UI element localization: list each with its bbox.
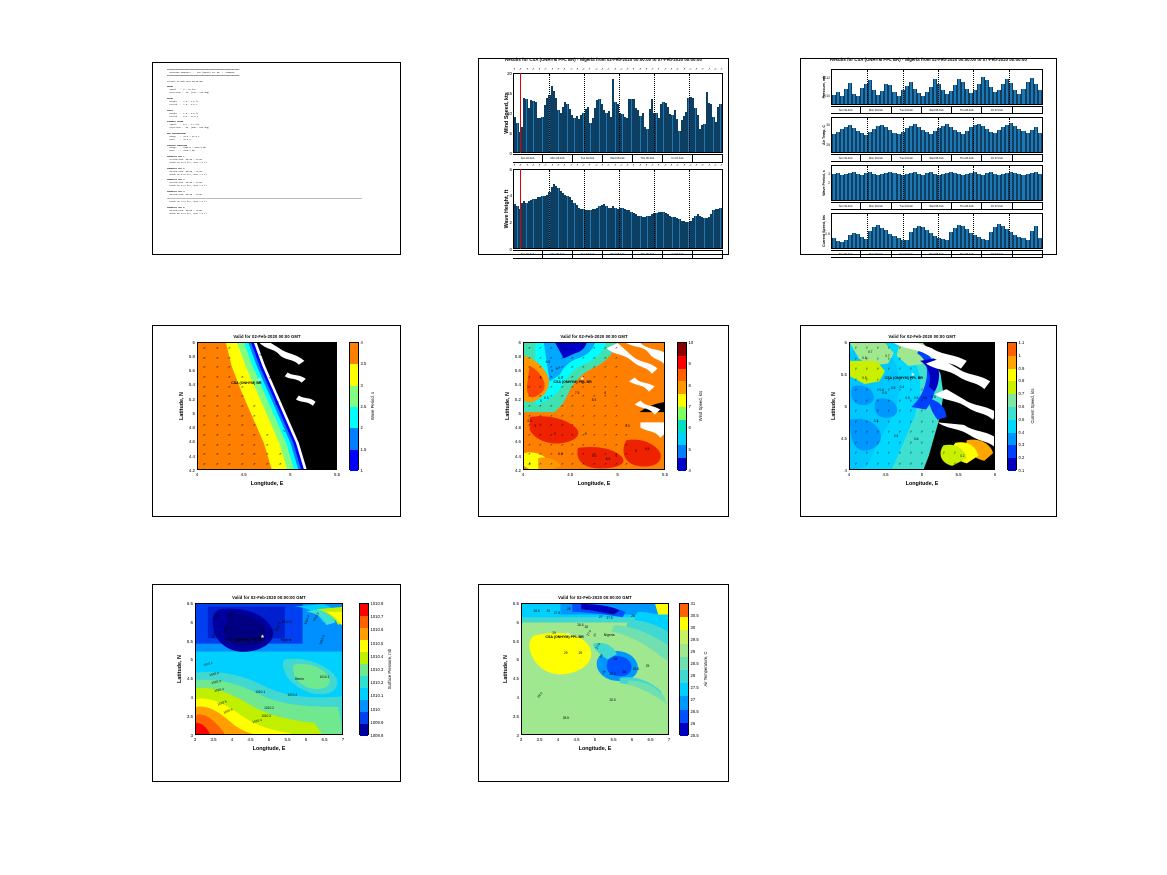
plot-axes [831,213,1043,249]
vector-arrow-icon: ↗ [538,355,542,360]
bar-series [832,214,1042,248]
contour-label: 0.6 [914,437,918,441]
vector-arrow-icon: ↗ [909,451,914,456]
day-label: Mon 03-Feb [861,203,891,209]
colorbar-tick-label: 7 [689,404,691,409]
vector-arrow-icon: ↗ [252,452,257,457]
colorbar [679,603,689,735]
vector-arrow-icon: ↗ [613,355,617,360]
contour-label: 0.6 [862,356,866,360]
direction-arrow-icon: ↗ [631,163,635,168]
day-label: Wed 05-Feb [922,203,952,209]
x-tick-label: 6 [298,737,314,742]
direction-arrow-icon: ↗ [720,67,723,71]
colorbar-tick-label: 0.4 [1019,430,1025,435]
vector-arrow-icon: ↗ [549,433,553,438]
colorbar [677,342,687,470]
colorbar-segment [680,644,688,657]
direction-arrow-icon: ↗ [550,163,554,168]
colorbar-label: Air Temperature, C [703,603,708,735]
direction-arrow-icon: ↗ [713,163,717,168]
vector-arrow-icon: ↗ [592,374,596,379]
vector-arrow-icon: ↗ [581,423,585,428]
direction-arrow-icon: ↗ [581,163,585,168]
vector-arrow-icon: ↗ [202,365,207,370]
y-axis-label: Wave Height, ft [504,169,510,249]
y-tick-label: 4.6 [182,439,195,444]
colorbar-segment [1008,381,1016,394]
x-tick-label: 5 [587,737,603,742]
day-separator [867,70,868,104]
x-tick-label: 5 [261,737,277,742]
x-tick-label: 5.5 [657,472,673,477]
y-tick-label: 1010 [820,94,830,98]
y-tick-label: 10 [502,111,512,116]
vector-arrow-icon: ↗ [265,462,270,467]
x-tick-label: 5 [282,472,298,477]
y-tick-label: 5 [506,657,519,662]
vector-arrow-icon: ↗ [909,461,914,466]
site-label: CSA (ONHYM) PPL BR [553,380,591,384]
day-label: Thu 06-Feb [952,251,982,257]
colorbar-segment [680,696,688,709]
bar-series [832,118,1042,152]
vector-arrow-icon: ↗ [603,384,607,389]
vector-arrow-icon: ↗ [592,462,596,467]
vector-arrow-icon: ↗ [897,367,902,372]
direction-arrow-icon: ↗ [581,67,585,72]
vector-arrow-icon: ↗ [592,365,596,370]
vector-arrow-icon: ↗ [853,430,858,435]
day-label: Thu 06-Feb [633,251,663,258]
direction-arrow-icon: ↗ [569,163,573,168]
contour-label: 0.3 [874,419,878,423]
colorbar-label: Wind Speed, kts [698,342,703,470]
vector-arrow-icon: ↗ [853,346,858,351]
colorbar-segment [678,343,686,356]
colorbar-segment [350,343,358,364]
current-time-marker [520,73,521,153]
day-separator [1009,118,1010,152]
direction-arrow-icon: ↗ [557,67,560,71]
vector-arrow-icon: ↗ [549,462,553,467]
x-tick-label: 4.5 [569,737,585,742]
direction-arrow-icon: ↗ [657,163,661,168]
vector-arrow-icon: ↗ [202,442,207,447]
vector-arrow-icon: ↗ [886,461,891,466]
direction-arrow-icon: ↗ [537,163,541,168]
map-title: Valid for 02-Feb-2020 00:00 GMT [829,334,1015,339]
colorbar-tick-label: 2.5 [361,404,367,409]
direction-arrow-icon: ↗ [688,163,692,168]
colorbar [349,342,359,470]
direction-arrow-icon: ↗ [544,163,547,167]
day-separator [903,166,904,200]
direction-arrow-icon: ↗ [544,67,547,71]
contour-label: 9.5 [592,454,596,458]
plot-axes [831,165,1043,201]
y-tick-label: 4.4 [508,454,521,459]
contour-label: 0.6 [923,396,927,400]
vector-arrow-icon: ↗ [527,423,531,428]
bar [1038,133,1042,152]
vector-arrow-grid: ↗↗↗↗↗↗↗↗↗↗↗↗↗↗↗↗↗↗↗↗↗↗↗↗↗↗↗↗↗↗↗↗↗↗↗↗↗↗↗↗… [198,343,336,469]
vector-arrow-icon: ↗ [613,433,617,438]
site-label: CSA (ONHYM) PPL BR [885,376,923,380]
colorbar-segment [360,724,368,736]
day-separator [938,70,939,104]
vector-arrow-icon: ↗ [920,388,925,393]
vector-arrow-icon: ↗ [227,355,232,360]
colorbar-segment [678,433,686,446]
vector-arrow-icon: ↗ [853,409,858,414]
contour-label: 28.5 [633,667,639,671]
vector-arrow-icon: ↗ [227,365,232,370]
day-label [1013,155,1043,161]
colorbar-segment [680,617,688,630]
bar [1038,174,1042,200]
vector-arrow-icon: ↗ [252,433,257,438]
vector-arrow-icon: ↗ [864,398,869,403]
forecast-report-text: ========================================… [167,69,394,248]
y-tick-label: 5.8 [182,354,195,359]
direction-arrow-icon: ↗ [657,67,661,72]
vector-arrow-icon: ↗ [920,430,925,435]
country-label: Nigeria [281,638,292,642]
vector-arrow-icon: ↗ [603,345,607,350]
contour-label: 0.5 [894,434,898,438]
wind-speed-map-panel: Valid for 02-Feb-2020 00:00 GMT↗↗↗↗↗↗↗↗↗… [478,325,729,517]
vector-arrow-icon: ↗ [853,388,858,393]
colorbar-tick-label: 10 [689,340,694,345]
day-separator [903,70,904,104]
y-tick-label: 2 [502,220,512,225]
y-tick-label: 3 [506,733,519,738]
contour-label: 8 [604,391,606,395]
direction-arrow-icon: ↗ [619,67,623,72]
colorbar-segment [678,420,686,433]
vector-arrow-icon: ↗ [592,442,596,447]
vector-arrow-icon: ↗ [538,365,542,370]
x-axis-label: Longitude, E [849,481,995,487]
vector-arrow-icon: ↗ [549,404,553,409]
colorbar-segment [1008,356,1016,369]
vector-arrow-icon: ↗ [613,423,617,428]
day-label: Fri 07-Feb [982,203,1012,209]
x-axis-label: Longitude, E [195,746,343,752]
x-tick-label: 4.5 [243,737,259,742]
vector-arrow-icon: ↗ [942,440,947,445]
bar-series [514,74,722,152]
vector-arrow-icon: ↗ [240,433,245,438]
colorbar-segment [678,381,686,394]
vector-arrow-icon: ↗ [931,440,936,445]
colorbar-segment [360,616,368,628]
day-label: Mon 03-Feb [861,155,891,161]
vector-arrow-icon: ↗ [581,462,585,467]
x-tick-label: 5.5 [329,472,345,477]
vector-arrow-icon: ↗ [886,367,891,372]
contour-label: 1010.2 [264,706,274,710]
day-label: Tue 04-Feb [892,203,922,209]
contour-label: 5 [551,369,553,373]
vector-arrow-icon: ↗ [227,423,232,428]
direction-arrow-icon: ↗ [519,67,522,71]
day-label [693,155,723,162]
y-axis-label: Latitude, N [505,342,511,470]
direction-arrow-icon: ↗ [638,67,641,71]
day-separator [973,70,974,104]
colorbar-tick-label: 4 [361,340,363,345]
vector-arrow-icon: ↗ [897,356,902,361]
vector-arrow-icon: ↗ [549,345,553,350]
vector-arrow-icon: ↗ [227,433,232,438]
country-label: Nigeria [604,633,615,637]
day-separator [867,118,868,152]
vector-arrow-icon: ↗ [897,451,902,456]
day-label: Mon 03-Feb [543,155,573,162]
vector-arrow-icon: ↗ [897,346,902,351]
wind-direction-arrows: ↗↗↗↗↗↗↗↗↗↗↗↗↗↗↗↗↗↗↗↗↗↗↗↗↗↗↗↗↗↗↗↗↗↗ [513,163,723,167]
direction-arrow-icon: ↗ [701,67,705,72]
vector-arrow-icon: ↗ [252,442,257,447]
day-separator [619,74,620,152]
vector-arrow-icon: ↗ [265,452,270,457]
colorbar-tick-label: 27 [691,697,696,702]
colorbar-segment [1008,407,1016,420]
colorbar-tick-label: 1009.9 [371,720,384,725]
vector-arrow-icon: ↗ [559,355,563,360]
vector-arrow-icon: ↗ [538,413,542,418]
vector-arrow-icon: ↗ [853,367,858,372]
vector-arrow-icon: ↗ [875,356,880,361]
contour-label: 8.5 [544,396,548,400]
vector-arrow-icon: ↗ [202,452,207,457]
vector-arrow-icon: ↗ [875,430,880,435]
direction-arrow-icon: ↗ [606,67,610,72]
vector-arrow-icon: ↗ [570,404,574,409]
colorbar-segment [350,450,358,471]
vector-arrow-icon: ↗ [240,384,245,389]
contour-label: 28 [614,657,618,661]
contour-label: 27 [599,615,603,619]
vector-arrow-icon: ↗ [603,365,607,370]
x-tick-label: 7 [335,737,351,742]
contour-label: 28.5 [563,716,569,720]
colorbar-tick-label: 1010.7 [371,614,384,619]
colorbar-segment [680,683,688,696]
day-label: Tue 04-Feb [892,251,922,257]
vector-arrow-icon: ↗ [931,461,936,466]
x-tick-label: 4.5 [562,472,578,477]
vector-arrow-icon: ↗ [202,413,207,418]
vector-arrow-icon: ↗ [559,433,563,438]
vector-arrow-icon: ↗ [202,462,207,467]
vector-arrow-icon: ↗ [227,384,232,389]
direction-arrow-icon: ↗ [525,163,529,168]
vector-arrow-icon: ↗ [581,355,585,360]
vector-arrow-icon: ↗ [886,451,891,456]
y-tick-label: 5.5 [180,639,193,644]
day-separator [654,74,655,152]
vector-arrow-icon: ↗ [864,419,869,424]
direction-arrow-icon: ↗ [525,67,529,72]
y-tick-label: 6.5 [506,601,519,606]
direction-arrow-icon: ↗ [594,67,598,72]
vector-arrow-icon: ↗ [570,355,574,360]
y-tick-label: 4.4 [182,454,195,459]
colorbar-tick-label: 1 [1019,353,1021,358]
colorbar-tick-label: 26 [691,721,696,726]
colorbar-segment [360,688,368,700]
direction-arrow-icon: ↗ [626,163,629,167]
vector-arrow-icon: ↗ [886,398,891,403]
day-separator [903,118,904,152]
vector-arrow-icon: ↗ [603,433,607,438]
colorbar-tick-label: 1010.2 [371,680,384,685]
colorbar-segment [350,428,358,449]
y-tick-label: 6.5 [180,601,193,606]
vector-arrow-icon: ↗ [227,452,232,457]
colorbar-tick-label: 4 [689,468,691,473]
colorbar-segment [680,630,688,643]
vector-arrow-icon: ↗ [202,423,207,428]
contour-label: 9.5 [645,447,649,451]
contour-label: 6.5 [546,360,550,364]
colorbar-segment [360,664,368,676]
y-tick-label: 20 [502,71,512,76]
direction-arrow-icon: ↗ [638,163,641,167]
y-tick-label: 4.5 [506,676,519,681]
day-separator [973,166,974,200]
vector-arrow-icon: ↗ [603,413,607,418]
contour-label: 29 [579,651,583,655]
vector-arrow-icon: ↗ [592,384,596,389]
colorbar-tick-label: 0.7 [1019,391,1025,396]
vector-arrow-icon: ↗ [875,461,880,466]
contour-label: 8.5 [592,398,596,402]
colorbar-tick-label: 1010.1 [371,693,384,698]
x-tick-label: 6.5 [317,737,333,742]
vector-arrow-icon: ↗ [549,384,553,389]
vector-arrow-icon: ↗ [215,452,220,457]
contour-label: 0.5 [905,396,909,400]
vector-arrow-icon: ↗ [240,423,245,428]
colorbar-tick-label: 29.5 [691,637,699,642]
y-tick-label: 6 [508,340,521,345]
contour-label: 26.5 [609,610,615,614]
colorbar-tick-label: 26.5 [691,709,699,714]
y-tick-label: 4.5 [180,676,193,681]
vector-arrow-icon: ↗ [549,394,553,399]
vector-arrow-icon: ↗ [886,346,891,351]
y-tick-label: 0.5 [820,232,830,236]
y-tick-label: 4 [506,695,519,700]
x-tick-label: 3.5 [206,737,222,742]
vector-arrow-icon: ↗ [592,433,596,438]
vector-arrow-icon: ↗ [227,442,232,447]
surface-pressure-map-panel: Valid for 02-Feb-2020 00:00:00 GMT101010… [152,584,401,782]
day-label: Tue 04-Feb [573,251,603,258]
colorbar-tick-label: 9 [689,361,691,366]
x-tick-label: 4.5 [878,472,894,477]
vector-arrow-icon: ↗ [538,433,542,438]
vector-arrow-icon: ↗ [942,451,947,456]
y-tick-label: 4.2 [182,468,195,473]
vector-arrow-icon: ↗ [897,409,902,414]
colorbar-segment [678,394,686,407]
vector-arrow-icon: ↗ [864,461,869,466]
vector-arrow-icon: ↗ [953,461,958,466]
colorbar-tick-label: 8 [689,383,691,388]
vector-arrow-icon: ↗ [202,394,207,399]
y-tick-label: 5.2 [508,397,521,402]
vector-arrow-icon: ↗ [240,452,245,457]
day-label: Thu 06-Feb [952,203,982,209]
direction-arrow-icon: ↗ [669,163,673,168]
colorbar-tick-label: 1010.3 [371,667,384,672]
day-separator [1009,70,1010,104]
vector-arrow-icon: ↗ [897,398,902,403]
vector-arrow-icon: ↗ [853,461,858,466]
direction-arrow-icon: ↗ [550,67,554,72]
y-tick-label: 25 [820,143,830,147]
vector-arrow-icon: ↗ [227,345,232,350]
y-tick-label: 5 [182,411,195,416]
contour-label: 1010.2 [287,693,297,697]
vector-arrow-icon: ↗ [538,384,542,389]
y-tick-label: 6 [506,620,519,625]
vector-arrow-icon: ↗ [277,452,282,457]
vector-arrow-icon: ↗ [570,433,574,438]
y-tick-label: 4.8 [182,425,195,430]
vector-arrow-icon: ↗ [527,442,531,447]
vector-arrow-icon: ↗ [613,413,617,418]
contour-label: 28 [567,607,571,611]
vector-arrow-icon: ↗ [215,365,220,370]
colorbar-tick-label: 0.3 [1019,442,1025,447]
y-tick-label: 15 [502,91,512,96]
bar-series [514,170,722,248]
colorbar-segment [350,386,358,407]
contour-label: 9 [616,454,618,458]
colorbar-tick-label: 3.5 [361,361,367,366]
day-separator [584,74,585,152]
colorbar-tick-label: 28 [691,673,696,678]
vector-arrow-icon: ↗ [570,384,574,389]
site-label: CSA (ONHYM) BR [231,381,261,385]
day-label: Wed 05-Feb [922,155,952,161]
vector-arrow-icon: ↗ [624,462,628,467]
day-label [693,251,723,258]
contour-label: 8 [540,376,542,380]
day-label [1013,251,1043,257]
contour-label: 28 [622,670,626,674]
vector-arrow-icon: ↗ [613,404,617,409]
direction-arrow-icon: ↗ [707,163,710,167]
forecast-report-panel: ========================================… [152,62,401,255]
direction-arrow-icon: ↗ [594,163,598,168]
plot-axes [831,117,1043,153]
colorbar-segment [1008,394,1016,407]
direction-arrow-icon: ↗ [613,67,616,71]
vector-arrow-icon: ↗ [202,374,207,379]
day-separator [938,166,939,200]
vector-arrow-icon: ↗ [931,451,936,456]
plot-axes [831,69,1043,105]
vector-arrow-icon: ↗ [942,461,947,466]
y-tick-label: 0 [502,247,512,252]
